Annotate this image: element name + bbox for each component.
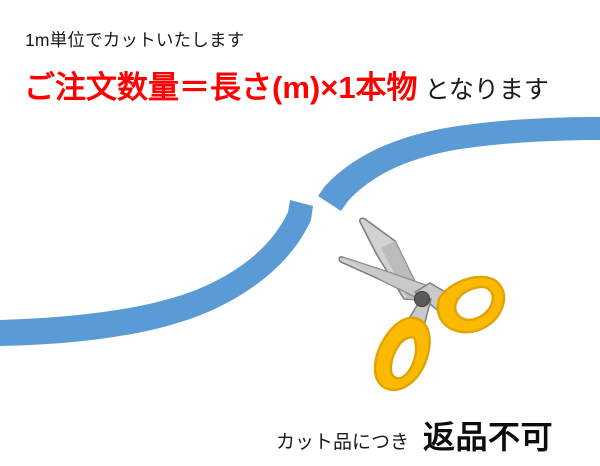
headline-line-2: ご注文数量＝長さ(m)×1本物となります [24,69,549,113]
scissors-handle-right [438,277,504,332]
caption-prefix-text: カット品につき [276,427,409,454]
headline-suffix-text: となります [425,76,549,104]
scissors-group [339,218,504,390]
blue-hose-right-segment [318,117,600,211]
headline-line-1: 1m単位でカットいたします [25,29,244,51]
caption-emphasis-text: 返品不可 [423,412,553,458]
return-policy-caption: カット品につき返品不可 [276,412,553,458]
scissors-pivot-icon [415,292,430,307]
blue-hose-left-segment [0,200,313,346]
scissors-handle-lower [375,318,430,390]
headline-emphasis-text: ご注文数量＝長さ(m)×1本物 [24,70,418,105]
cut-service-notice-graphic: 1m単位でカットいたします ご注文数量＝長さ(m)×1本物となります カット品に… [0,0,600,466]
